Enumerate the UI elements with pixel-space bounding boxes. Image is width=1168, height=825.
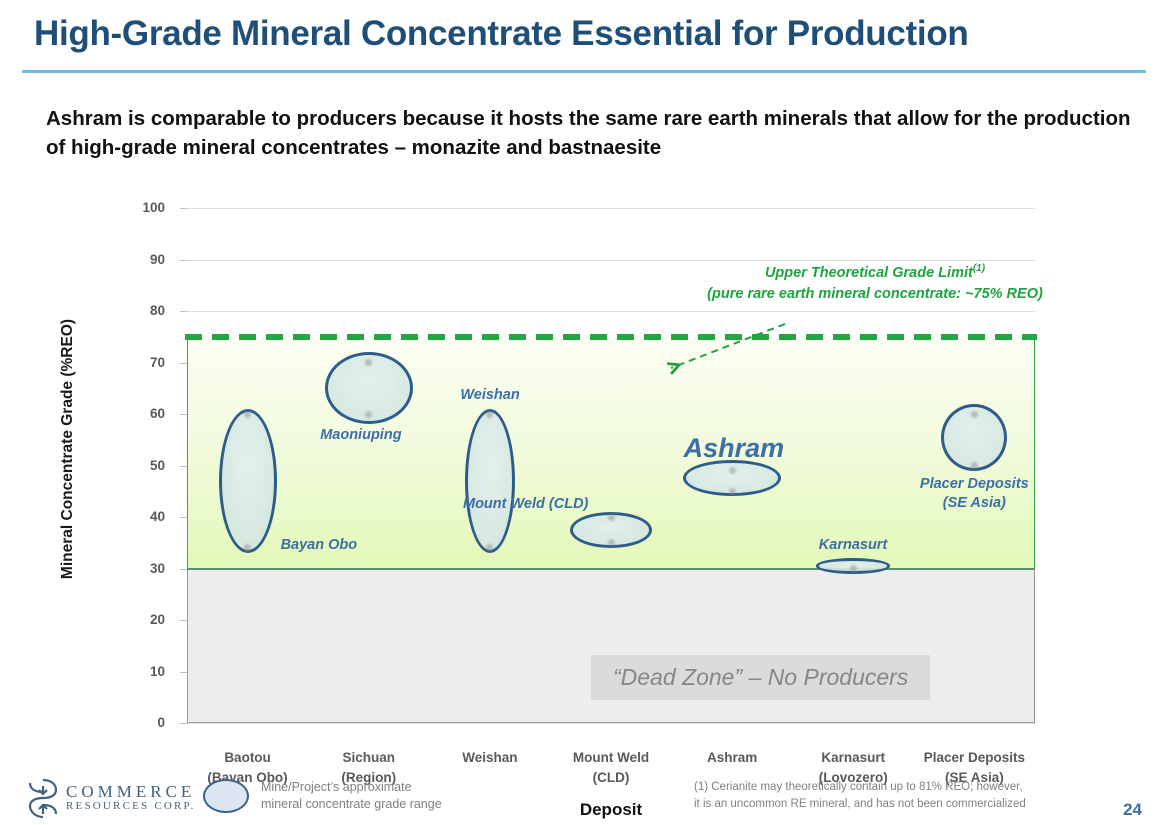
x-tick-label-line1: Placer Deposits (894, 748, 1054, 768)
data-point-marker (729, 467, 736, 474)
data-point-marker (608, 539, 615, 546)
footnote-line-1: (1) Cerianite may theoretically contain … (694, 779, 1026, 796)
footnote-text: (1) Cerianite may theoretically contain … (694, 779, 1026, 813)
title-divider (22, 70, 1146, 73)
footnote-line-2: it is an uncommon RE mineral, and has no… (694, 796, 1026, 813)
data-point-marker (608, 514, 615, 521)
plot-area: 0102030405060708090100 “Dead Zone” – No … (187, 208, 1035, 723)
slide-footer: COMMERCE RESOURCES CORP. Mine/Project’s … (0, 775, 1168, 825)
annotation-arrow-icon (657, 320, 797, 380)
page-title: High-Grade Mineral Concentrate Essential… (34, 14, 1144, 54)
data-point-marker (729, 488, 736, 495)
bubble-label: Karnasurt (819, 536, 888, 555)
y-tick-mark (180, 672, 187, 673)
y-tick-label: 50 (125, 458, 165, 473)
y-tick-label: 30 (125, 561, 165, 576)
legend-bubble-swatch (203, 779, 249, 813)
deposit-bubble (219, 409, 277, 553)
data-point-marker (850, 565, 857, 572)
y-tick-mark (180, 517, 187, 518)
y-tick-mark (180, 620, 187, 621)
bubble-label: Maoniuping (320, 426, 401, 445)
page-number: 24 (1123, 800, 1142, 820)
legend-line-2: mineral concentrate grade range (261, 796, 442, 813)
data-point-marker (365, 411, 372, 418)
legend-line-1: Mine/Project’s approximate (261, 779, 442, 796)
y-tick-label: 20 (125, 612, 165, 627)
company-logo: COMMERCE RESOURCES CORP. (26, 777, 196, 821)
chart-legend: Mine/Project’s approximate mineral conce… (203, 779, 442, 813)
limit-annotation-line2: (pure rare earth mineral concentrate: ~7… (707, 286, 1043, 302)
y-tick-mark (180, 260, 187, 261)
gridline (187, 208, 1035, 209)
bubble-label-line1: Placer Deposits (920, 475, 1029, 494)
y-tick-mark (180, 723, 187, 724)
logo-line-2: RESOURCES CORP. (66, 799, 196, 814)
gridline (187, 311, 1035, 312)
data-point-marker (244, 411, 251, 418)
bubble-label: Mount Weld (CLD) (463, 495, 588, 514)
y-tick-label: 90 (125, 252, 165, 267)
y-tick-mark (180, 363, 187, 364)
logo-line-1: COMMERCE (66, 784, 196, 799)
y-tick-label: 0 (125, 715, 165, 730)
subtitle-text: Ashram is comparable to producers becaus… (46, 104, 1136, 162)
y-tick-mark (180, 569, 187, 570)
y-tick-mark (180, 414, 187, 415)
limit-annotation-line1: Upper Theoretical Grade Limit (765, 265, 973, 281)
dead-zone-label: “Dead Zone” – No Producers (591, 655, 930, 700)
y-axis-title: Mineral Concentrate Grade (%REO) (59, 299, 77, 599)
data-point-marker (971, 462, 978, 469)
upper-theoretical-limit-line (185, 334, 1037, 340)
y-tick-mark (180, 311, 187, 312)
footnote-marker: (1) (973, 263, 985, 274)
y-tick-label: 10 (125, 664, 165, 679)
chart-container: Mineral Concentrate Grade (%REO) 0102030… (0, 190, 1168, 770)
data-point-marker (486, 411, 493, 418)
y-tick-label: 80 (125, 303, 165, 318)
y-tick-mark (180, 208, 187, 209)
bubble-label-line2: (SE Asia) (920, 494, 1029, 513)
logo-wordmark: COMMERCE RESOURCES CORP. (66, 784, 196, 814)
limit-annotation: Upper Theoretical Grade Limit(1) (pure r… (635, 258, 1115, 305)
productive-zone-floor (187, 568, 1035, 570)
y-tick-label: 60 (125, 406, 165, 421)
y-tick-label: 100 (125, 200, 165, 215)
y-tick-mark (180, 466, 187, 467)
commerce-resources-logo-icon (26, 777, 60, 821)
bubble-label: Ashram (684, 439, 785, 458)
gridline (187, 723, 1035, 724)
y-tick-label: 40 (125, 509, 165, 524)
bubble-label: Bayan Obo (281, 536, 358, 555)
data-point-marker (971, 411, 978, 418)
bubble-label: Placer Deposits(SE Asia) (920, 475, 1029, 513)
legend-caption: Mine/Project’s approximate mineral conce… (261, 779, 442, 813)
y-tick-label: 70 (125, 355, 165, 370)
deposit-bubble (465, 409, 515, 553)
bubble-label: Weishan (460, 386, 519, 405)
